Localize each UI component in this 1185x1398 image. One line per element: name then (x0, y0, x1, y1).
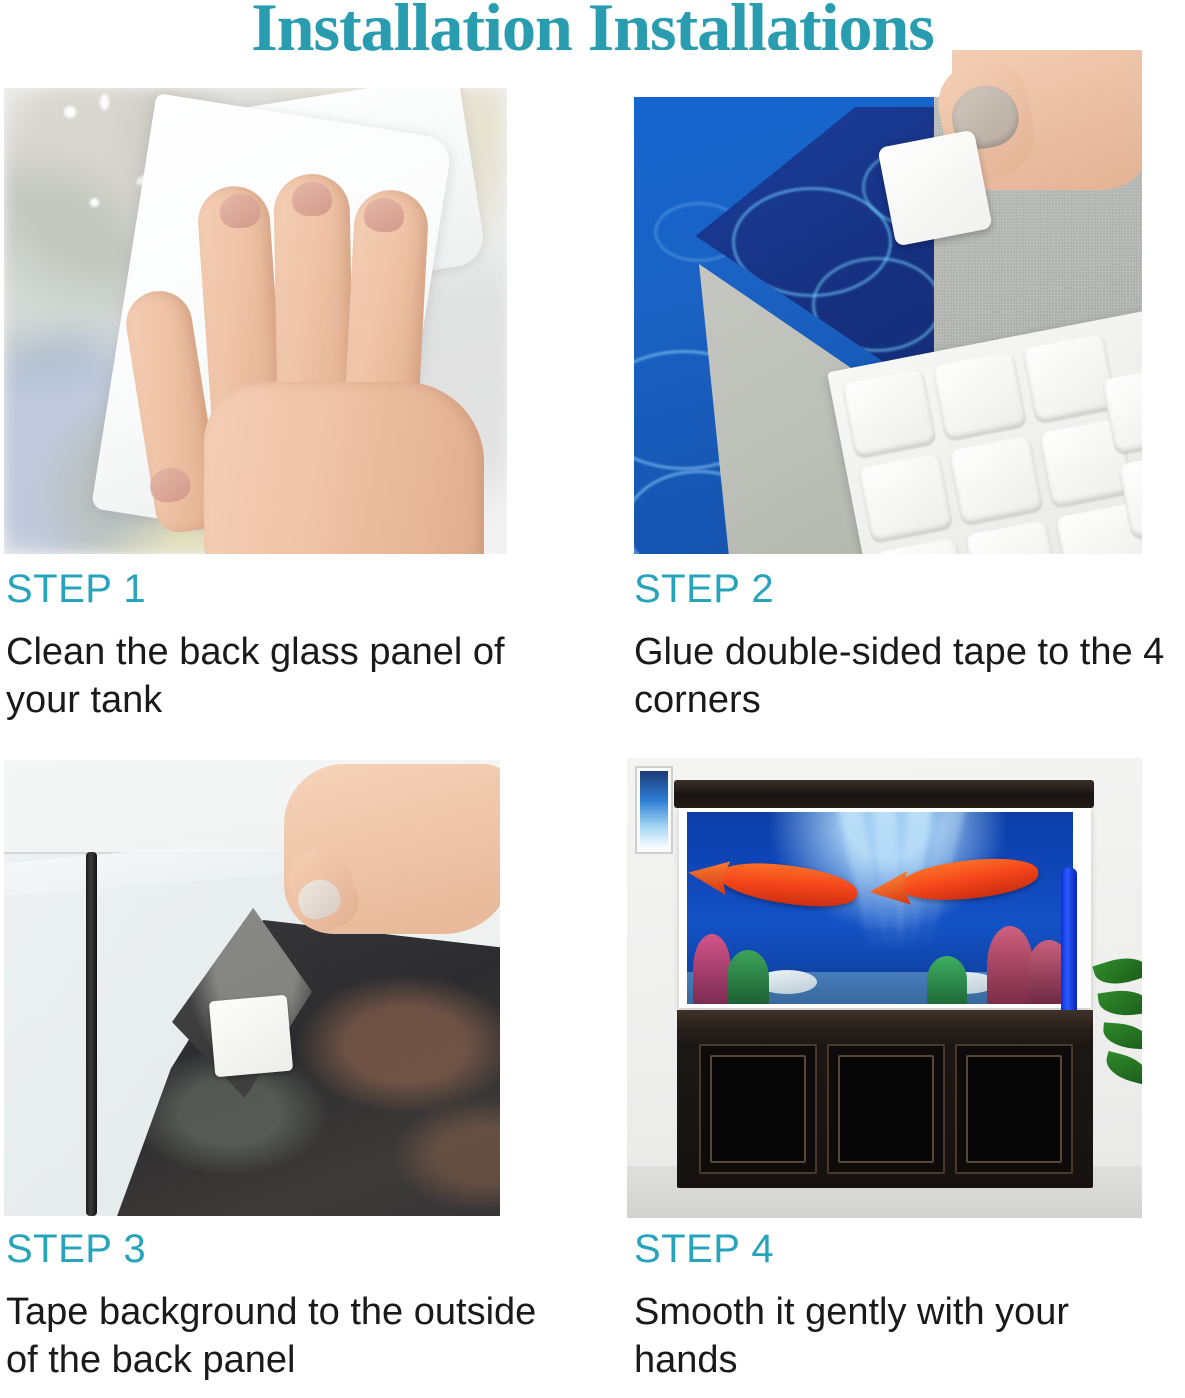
wall-picture-frame (635, 766, 673, 854)
aquarium-plant (927, 956, 967, 1004)
adhesive-square (965, 520, 1060, 554)
step-3-label: STEP 3 (6, 1226, 576, 1272)
adhesive-square-held (877, 130, 992, 247)
cabinet-door-panel (710, 1055, 806, 1163)
cabinet-door[interactable] (699, 1044, 817, 1174)
house-plant (1093, 958, 1142, 1118)
palm (204, 382, 484, 554)
step-2-label: STEP 2 (634, 566, 1174, 612)
adhesive-square (1022, 333, 1117, 423)
plant-leaf (1097, 987, 1142, 1020)
water-droplet (100, 94, 109, 110)
double-sided-tape-square (209, 995, 293, 1078)
adhesive-square (858, 453, 953, 543)
cabinet-door[interactable] (827, 1044, 945, 1174)
hand (164, 172, 507, 554)
step-2-photo (634, 50, 1142, 554)
water-droplet (64, 106, 76, 118)
cabinet-door[interactable] (955, 1044, 1073, 1174)
step-4-photo (627, 758, 1142, 1218)
tank-black-corner-trim (86, 852, 97, 1216)
adhesive-square (932, 351, 1027, 441)
plant-leaf (1103, 1051, 1142, 1085)
step-1-label: STEP 1 (6, 566, 566, 612)
step-1-description: Clean the back glass panel of your tank (6, 628, 566, 724)
step-1-photo (4, 88, 507, 554)
adhesive-square (842, 368, 937, 458)
cabinet-door-panel (966, 1055, 1062, 1163)
step-3-caption: STEP 3 Tape background to the outside of… (6, 1226, 576, 1384)
step-4-description: Smooth it gently with your hands (634, 1288, 1179, 1384)
fingernail (292, 182, 332, 216)
installation-steps-grid: STEP 1 Clean the back glass panel of you… (0, 0, 1185, 1398)
step-4-label: STEP 4 (634, 1226, 1179, 1272)
step-2-caption: STEP 2 Glue double-sided tape to the 4 c… (634, 566, 1174, 724)
fish-body (716, 856, 860, 913)
aquarium-coral (693, 934, 731, 1004)
aquarium-plant (727, 950, 769, 1004)
adhesive-square (948, 435, 1043, 525)
cabinet-top-trim (677, 1010, 1093, 1032)
water-droplet (90, 198, 99, 207)
step-3-photo (4, 760, 500, 1216)
aquarium-water-with-background (687, 812, 1073, 1004)
cabinet-door-panel (838, 1055, 934, 1163)
step-3-description: Tape background to the outside of the ba… (6, 1288, 576, 1384)
aquarium-tank (679, 808, 1091, 1008)
step-1-caption: STEP 1 Clean the back glass panel of you… (6, 566, 566, 724)
step-2-description: Glue double-sided tape to the 4 corners (634, 628, 1174, 724)
plant-leaf (1102, 1022, 1142, 1049)
step-4-caption: STEP 4 Smooth it gently with your hands (634, 1226, 1179, 1384)
framed-artwork (640, 771, 668, 849)
aquarium-stand-cabinet (677, 1010, 1093, 1188)
aquarium-hood (674, 780, 1094, 808)
